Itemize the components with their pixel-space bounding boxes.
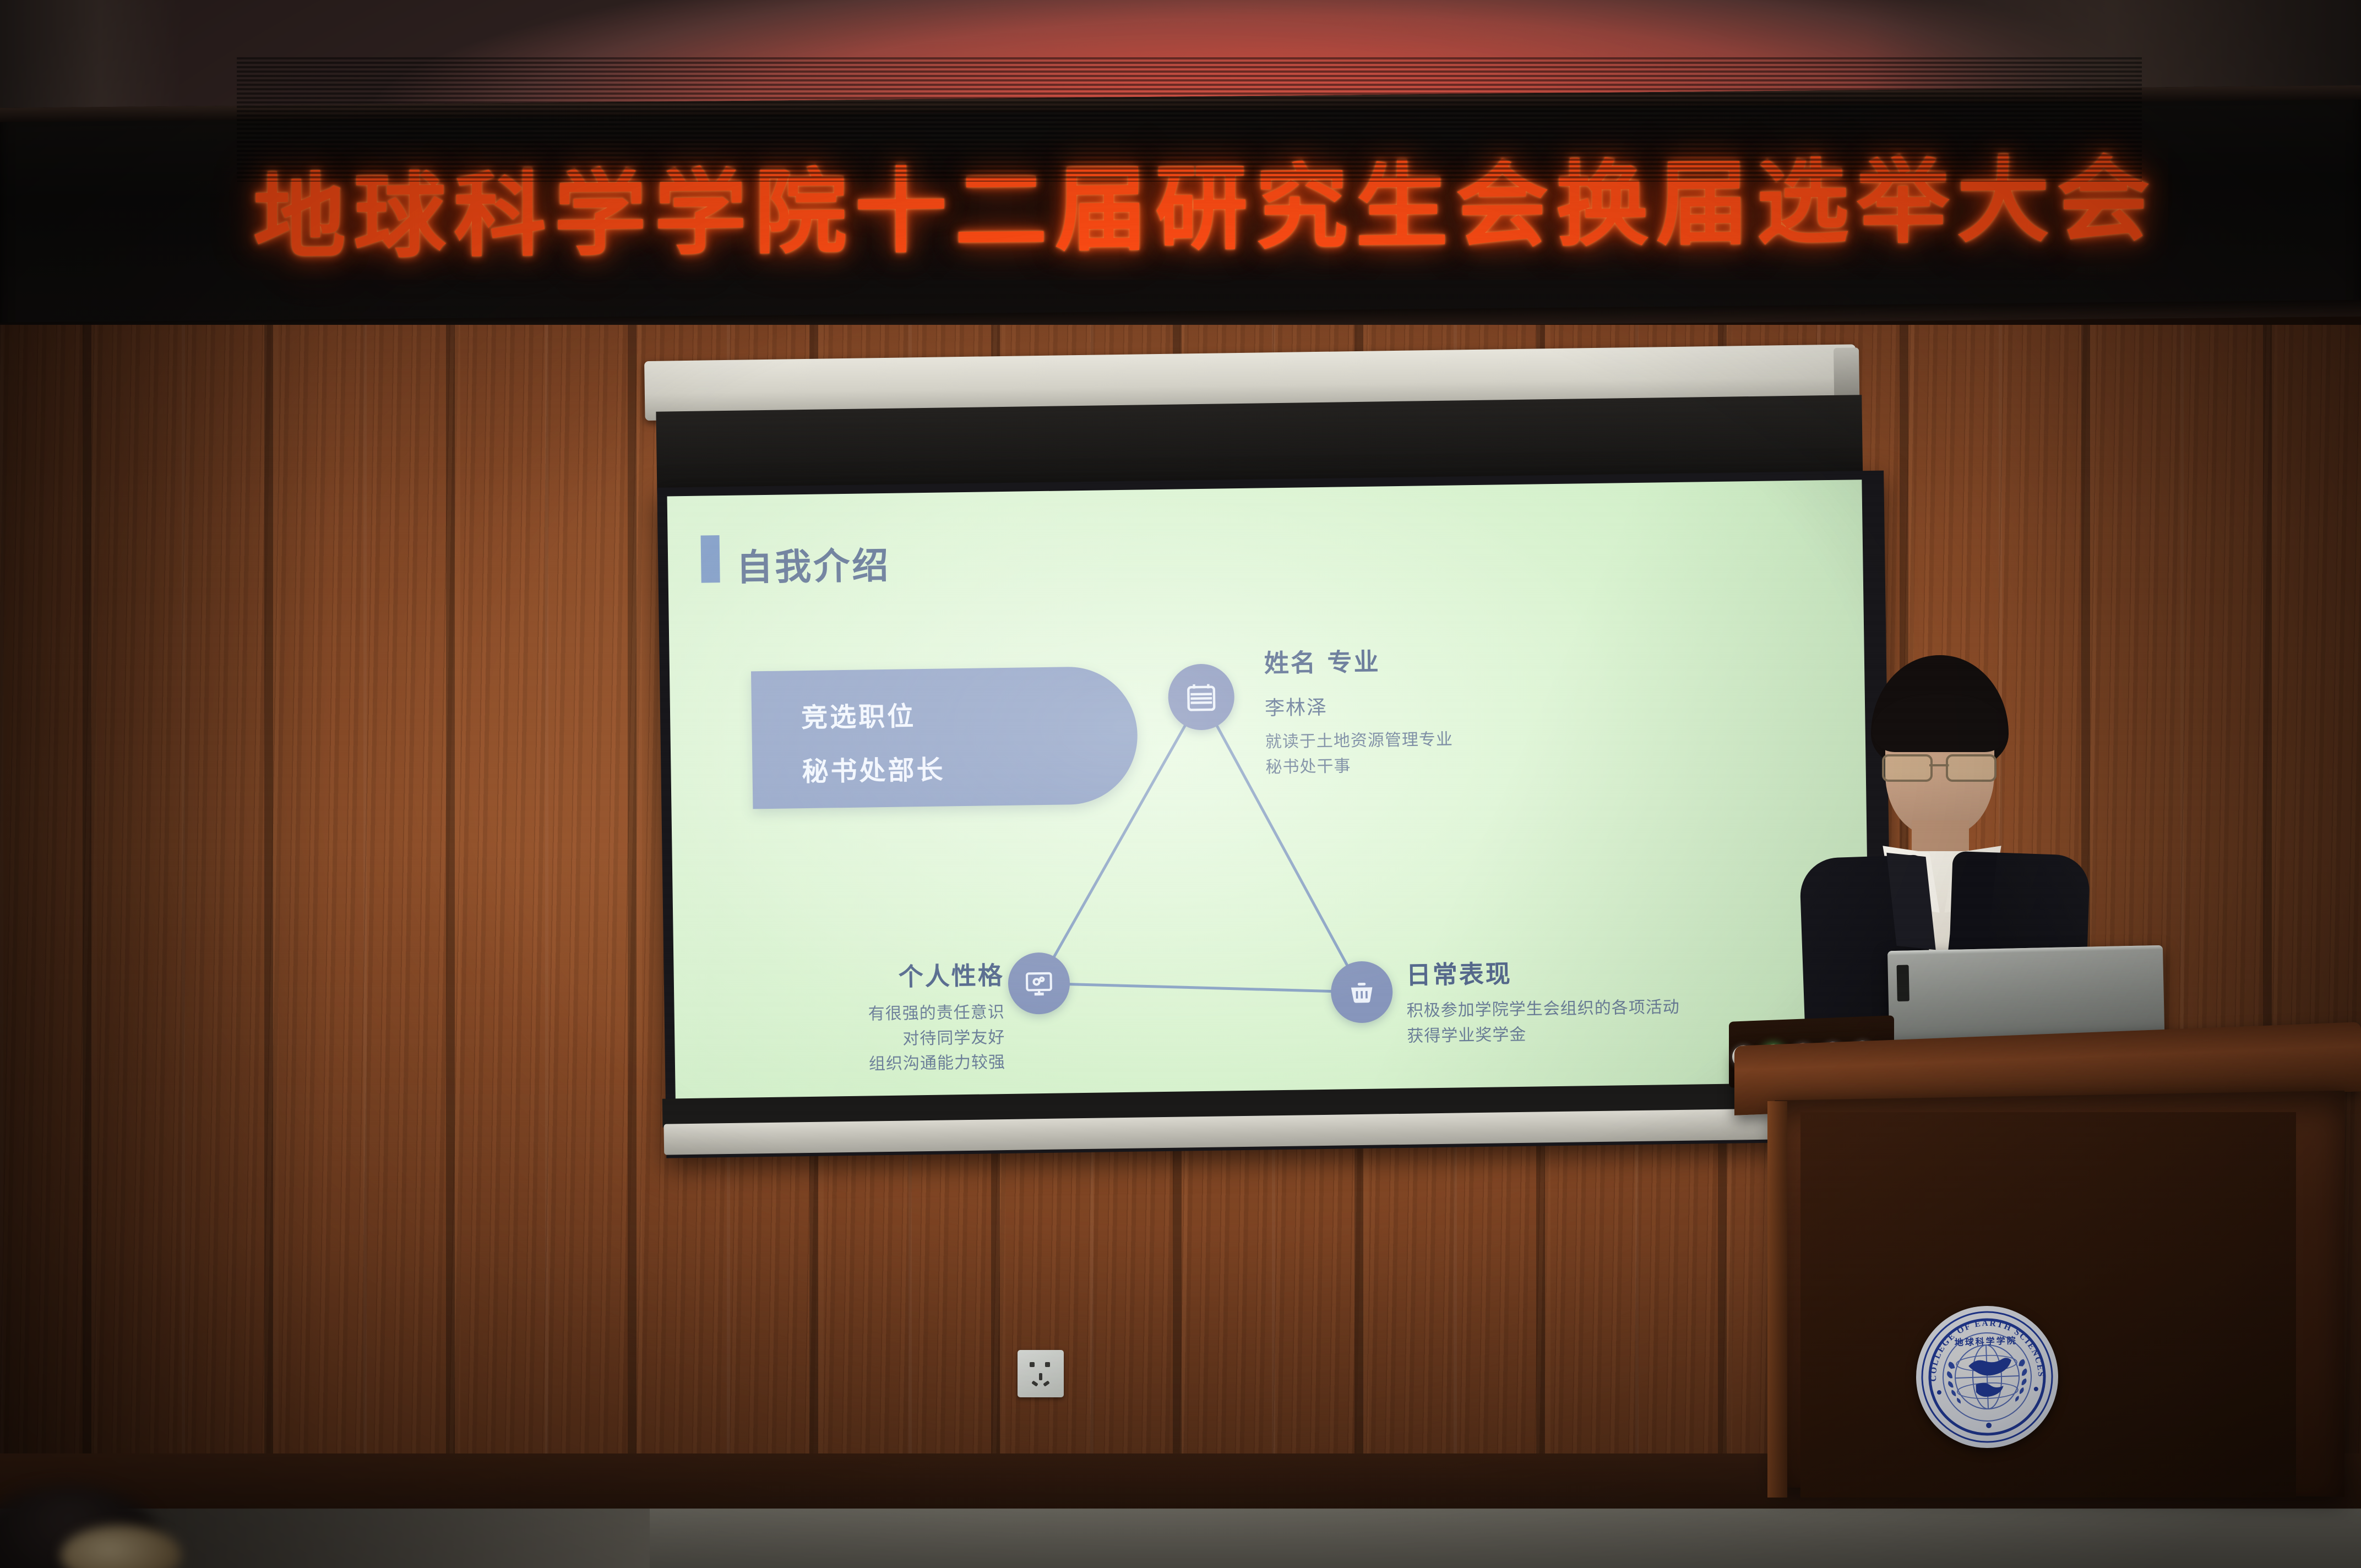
- campaign-position-card: 竞选职位 秘书处部长: [751, 666, 1138, 809]
- campaign-position-label: 竞选职位: [801, 694, 916, 734]
- projected-slide: 自我介绍 竞选职位 秘书处部长: [667, 480, 1871, 1118]
- campaign-position-value: 秘书处部长: [802, 748, 945, 789]
- power-outlet[interactable]: [1018, 1350, 1064, 1397]
- led-banner-housing: 地球科学学院十二届研究生会换届选举大会: [0, 85, 2361, 339]
- outlet-hole-2: [1045, 1362, 1050, 1367]
- screen-roller-endcap: [1834, 347, 1859, 401]
- lecture-hall-photo: 地球科学学院十二届研究生会换届选举大会 自我介绍: [0, 0, 2361, 1568]
- block-personality-line-1: 有很强的责任意识: [707, 1000, 1005, 1029]
- block-personality-title: 个人性格: [706, 963, 1004, 992]
- block-daily-performance-title: 日常表现: [1406, 957, 1847, 988]
- podium-left-edge: [1767, 1101, 1787, 1498]
- block-name-major: 姓名 专业 李林泽 就读于土地资源管理专业 秘书处干事: [1264, 645, 1684, 780]
- laptop-port: [1897, 965, 1910, 1001]
- outlet-hole-1: [1030, 1362, 1035, 1367]
- podium: COLLEGE OF EARTH SCIENCES 地球科学学院: [1734, 1019, 2361, 1568]
- block-name-major-title: 姓名 专业: [1264, 645, 1683, 676]
- svg-text:地球科学学院: 地球科学学院: [1954, 1335, 2017, 1348]
- eyeglasses-icon: [1881, 754, 1998, 778]
- block-personality-line-2: 对待同学友好: [708, 1025, 1005, 1054]
- presenter-fringe: [1872, 695, 2008, 752]
- college-emblem: COLLEGE OF EARTH SCIENCES 地球科学学院: [1914, 1304, 2061, 1451]
- block-personality-line-3: 组织沟通能力较强: [708, 1050, 1006, 1079]
- presenter-name: 李林泽: [1265, 687, 1684, 721]
- college-emblem-graphic: COLLEGE OF EARTH SCIENCES 地球科学学院: [1916, 1306, 2059, 1449]
- outlet-hole-4: [1031, 1380, 1038, 1386]
- block-personality: 个人性格 有很强的责任意识 对待同学友好 组织沟通能力较强: [706, 963, 1005, 1079]
- outlet-hole-5: [1043, 1380, 1049, 1386]
- slide-content: 自我介绍 竞选职位 秘书处部长: [667, 480, 1871, 1118]
- led-banner-text: 地球科学学院十二届研究生会换届选举大会: [253, 153, 2157, 264]
- eyeglass-lens-right: [1946, 754, 1996, 782]
- eyeglass-lens-left: [1882, 754, 1933, 782]
- outlet-hole-3: [1039, 1373, 1042, 1380]
